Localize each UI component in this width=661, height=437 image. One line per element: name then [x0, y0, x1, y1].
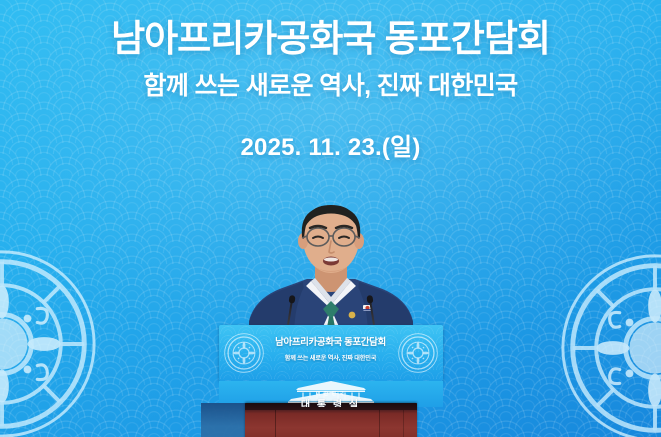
microphone-head-right — [366, 295, 373, 304]
banner-title: 남아프리카공화국 동포간담회 — [0, 18, 661, 59]
podium-wood-body — [245, 403, 417, 437]
banner-headline-block: 남아프리카공화국 동포간담회 함께 쓰는 새로운 역사, 진짜 대한민국 202… — [0, 18, 661, 162]
banner-subtitle: 함께 쓰는 새로운 역사, 진짜 대한민국 — [0, 71, 661, 101]
presentation-stage-photo: 남아프리카공화국 동포간담회 함께 쓰는 새로운 역사, 진짜 대한민국 202… — [0, 0, 661, 437]
lectern-banner: 남아프리카공화국 동포간담회 함께 쓰는 새로운 역사, 진짜 대한민국 — [219, 325, 443, 381]
microphone-head-left — [288, 295, 295, 304]
lectern-banner-title: 남아프리카공화국 동포간담회 — [219, 338, 443, 348]
crest-office-label: 대 통 령 실 — [219, 396, 443, 407]
lectern-crest-band: 대 한 민 국 대 통 령 실 — [219, 381, 443, 407]
podium-side-panel — [201, 403, 247, 437]
lectern-banner-text: 남아프리카공화국 동포간담회 함께 쓰는 새로운 역사, 진짜 대한민국 — [219, 338, 443, 362]
banner-date: 2025. 11. 23.(일) — [0, 127, 661, 162]
lectern: 남아프리카공화국 동포간담회 함께 쓰는 새로운 역사, 진짜 대한민국 — [219, 325, 443, 437]
lectern-banner-subtitle: 함께 쓰는 새로운 역사, 진짜 대한민국 — [219, 353, 443, 362]
